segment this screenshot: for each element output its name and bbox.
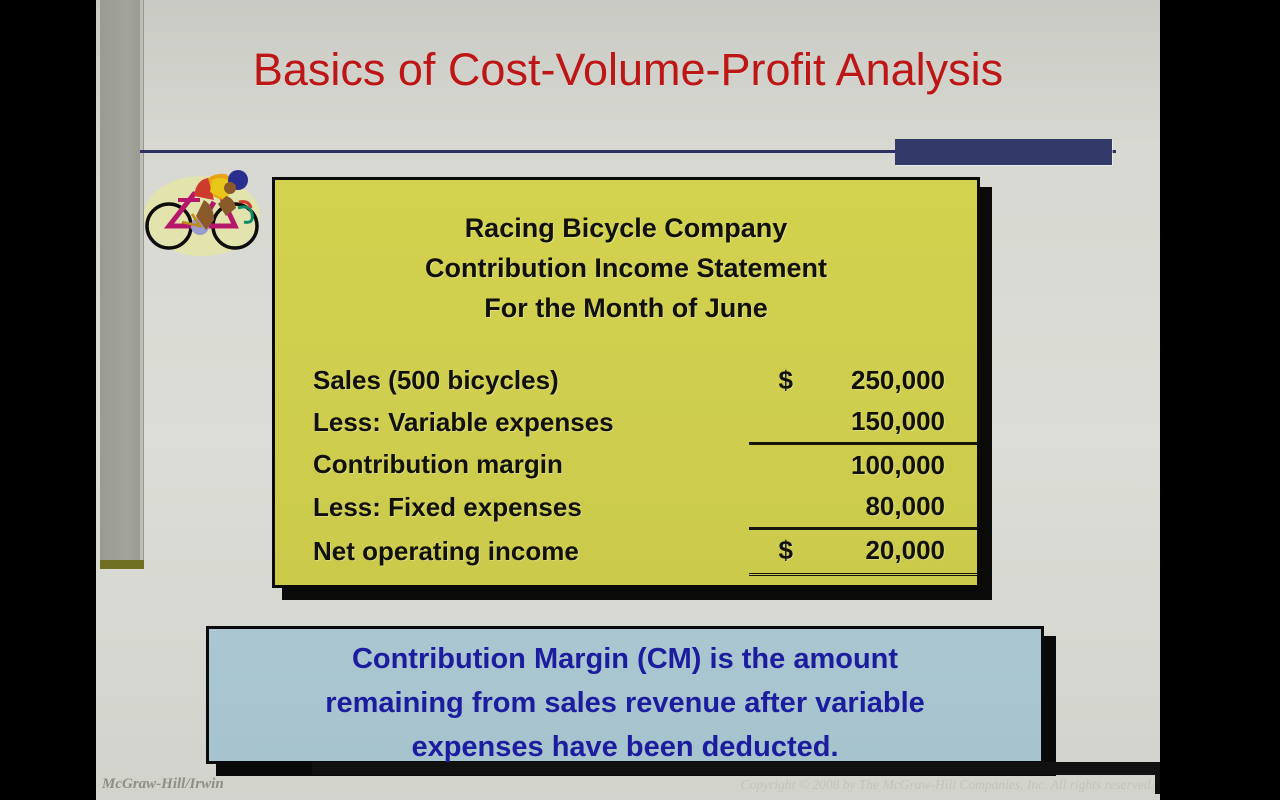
- contribution-income-statement-panel: Racing Bicycle Company Contribution Inco…: [272, 177, 980, 588]
- row-currency: [749, 401, 797, 444]
- row-amount: 150,000: [797, 401, 977, 444]
- row-label: Net operating income: [275, 529, 749, 575]
- title-accent-block: [895, 139, 1112, 165]
- table-row: Less: Variable expenses 150,000: [275, 401, 977, 444]
- row-label: Sales (500 bicycles): [275, 360, 749, 401]
- row-currency: $: [749, 360, 797, 401]
- footer-publisher: McGraw-Hill/Irwin: [102, 776, 224, 793]
- slide-canvas: Basics of Cost-Volume-Profit Analysis: [96, 0, 1160, 800]
- slide-letterbox: Basics of Cost-Volume-Profit Analysis: [0, 0, 1280, 800]
- table-row: Contribution margin 100,000: [275, 444, 977, 487]
- row-currency: [749, 486, 797, 529]
- cyclist-clipart-icon: [142, 156, 264, 262]
- row-label: Contribution margin: [275, 444, 749, 487]
- row-label: Less: Variable expenses: [275, 401, 749, 444]
- statement-heading-line-1: Racing Bicycle Company: [275, 208, 977, 248]
- row-amount: 100,000: [797, 444, 977, 487]
- row-label: Less: Fixed expenses: [275, 486, 749, 529]
- left-band-olive-cap: [100, 560, 144, 569]
- row-currency: [749, 444, 797, 487]
- table-row: Sales (500 bicycles) $ 250,000: [275, 360, 977, 401]
- callout-line-2: remaining from sales revenue after varia…: [209, 681, 1041, 725]
- table-row: Net operating income $ 20,000: [275, 529, 977, 575]
- callout-line-1: Contribution Margin (CM) is the amount: [209, 637, 1041, 681]
- statement-table: Sales (500 bicycles) $ 250,000 Less: Var…: [275, 360, 977, 576]
- statement-heading: Racing Bicycle Company Contribution Inco…: [275, 208, 977, 328]
- row-amount: 80,000: [797, 486, 977, 529]
- row-currency: $: [749, 529, 797, 575]
- row-amount: 250,000: [797, 360, 977, 401]
- footer-copyright: Copyright © 2008 by The McGraw-Hill Comp…: [741, 777, 1154, 793]
- contribution-margin-callout: Contribution Margin (CM) is the amount r…: [206, 626, 1044, 764]
- footer-edge-tick: [1155, 770, 1160, 794]
- row-amount: 20,000: [797, 529, 977, 575]
- statement-heading-line-3: For the Month of June: [275, 288, 977, 328]
- table-row: Less: Fixed expenses 80,000: [275, 486, 977, 529]
- statement-heading-line-2: Contribution Income Statement: [275, 248, 977, 288]
- page-title: Basics of Cost-Volume-Profit Analysis: [96, 44, 1160, 96]
- footer-divider-bar: [312, 762, 1160, 775]
